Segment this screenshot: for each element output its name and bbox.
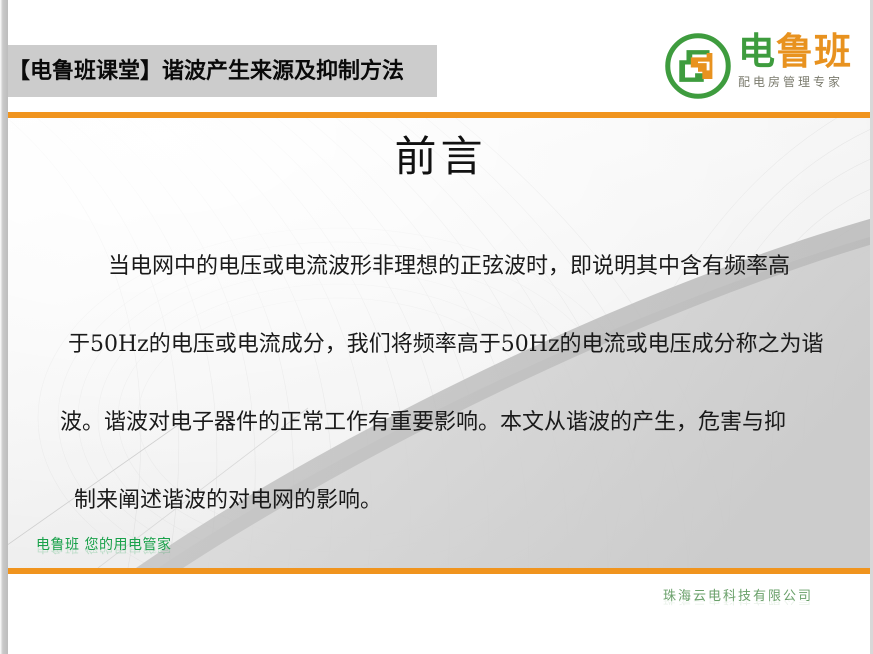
paragraph-line: 于50Hz的电压或电流成分，我们将频率高于50Hz的电流或电压成分称之为谐 bbox=[38, 306, 843, 384]
brand-name-char-green: 电 bbox=[738, 30, 776, 73]
slide-headline: 前言 bbox=[8, 133, 873, 181]
brand-name: 电鲁班 bbox=[738, 32, 852, 72]
paragraph-line: 当电网中的电压或电流波形非理想的正弦波时，即说明其中含有频率高 bbox=[38, 228, 843, 306]
slide-header-title-plate: 【电鲁班课堂】谐波产生来源及抑制方法 bbox=[0, 45, 437, 97]
brand-tagline: 配电房管理专家 bbox=[738, 74, 852, 90]
brand-logo: 电鲁班 配电房管理专家 bbox=[662, 30, 867, 108]
dianluban-circle-logo-icon bbox=[662, 30, 734, 102]
paragraph-line: 波。谐波对电子器件的正常工作有重要影响。本文从谐波的产生，危害与抑 bbox=[38, 384, 843, 462]
paragraph-line: 制来阐述谐波的对电网的影响。 bbox=[38, 462, 843, 540]
brand-name-char-orange: 鲁班 bbox=[776, 30, 852, 73]
slogan-reflection: 电鲁班 您的用电管家 bbox=[36, 540, 171, 555]
header-divider-rule bbox=[8, 112, 873, 118]
slogan-block: 电鲁班 您的用电管家 电鲁班 您的用电管家 bbox=[36, 536, 171, 568]
brand-wordmark: 电鲁班 配电房管理专家 bbox=[738, 30, 852, 90]
slide-paragraph: 当电网中的电压或电流波形非理想的正弦波时，即说明其中含有频率高 于50Hz的电压… bbox=[38, 228, 843, 540]
slide-footer: 珠海云电科技有限公司 珠海云电科技有限公司 bbox=[0, 574, 873, 654]
presentation-slide: 【电鲁班课堂】谐波产生来源及抑制方法 电鲁班 配电房管理专家 bbox=[0, 0, 873, 654]
company-name-reflection: 珠海云电科技有限公司 bbox=[663, 592, 813, 606]
slide-left-edge bbox=[0, 0, 8, 654]
slide-body: 前言 当电网中的电压或电流波形非理想的正弦波时，即说明其中含有频率高 于50Hz… bbox=[8, 118, 873, 568]
footer-divider-rule bbox=[8, 568, 873, 574]
slide-header-title: 【电鲁班课堂】谐波产生来源及抑制方法 bbox=[0, 60, 404, 82]
